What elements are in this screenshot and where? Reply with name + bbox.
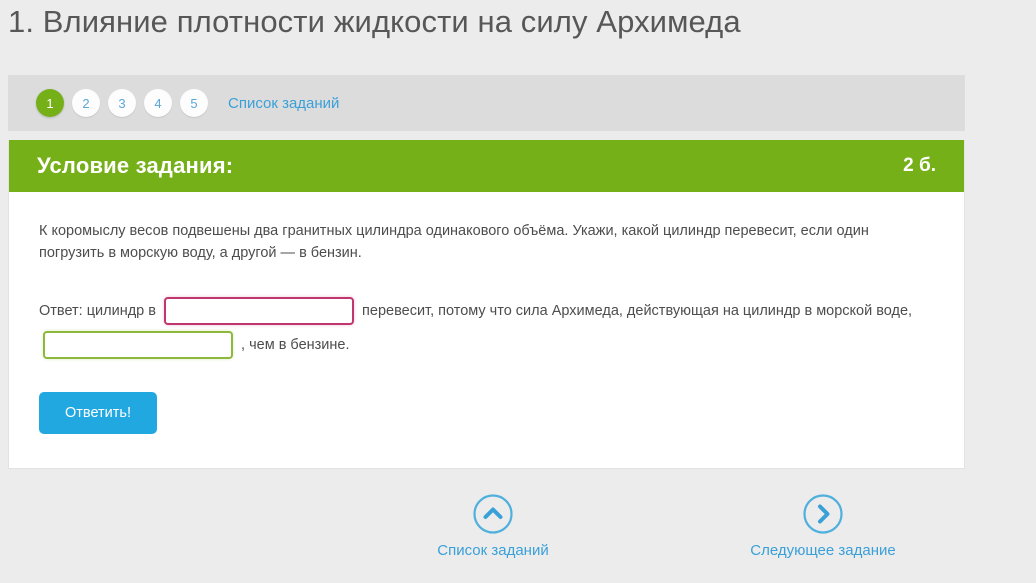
task-pill-1[interactable]: 1 xyxy=(36,89,64,117)
task-card-title: Условие задания: xyxy=(37,153,233,179)
task-pill-5[interactable]: 5 xyxy=(180,89,208,117)
task-pill-4[interactable]: 4 xyxy=(144,89,172,117)
answer-input-2[interactable] xyxy=(43,331,233,359)
submit-answer-button[interactable]: Ответить! xyxy=(39,392,157,434)
task-pill-2[interactable]: 2 xyxy=(72,89,100,117)
footer-task-list-button[interactable]: Список заданий xyxy=(378,493,608,560)
footer-next-task-button[interactable]: Следующее задание xyxy=(708,493,938,560)
answer-input-1[interactable] xyxy=(164,297,354,325)
task-card-header: Условие задания: 2 б. xyxy=(9,140,964,192)
footer-task-list-label: Список заданий xyxy=(437,542,548,559)
task-card: Условие задания: 2 б. К коромыслу весов … xyxy=(8,140,965,469)
task-list-link[interactable]: Список заданий xyxy=(228,95,339,112)
footer-next-task-label: Следующее задание xyxy=(750,542,895,559)
task-points-badge: 2 б. xyxy=(903,155,936,177)
answer-line: Ответ: цилиндр в перевесит, потому что с… xyxy=(39,294,934,362)
chevron-up-circle-icon xyxy=(472,493,514,535)
answer-middle-text: перевесит, потому что сила Архимеда, дей… xyxy=(362,303,912,319)
answer-prefix-text: Ответ: цилиндр в xyxy=(39,303,156,319)
task-nav: 1 2 3 4 5 Список заданий xyxy=(8,75,965,131)
answer-suffix-text: , чем в бензине. xyxy=(241,337,349,353)
task-statement: К коромыслу весов подвешены два гранитны… xyxy=(39,220,934,264)
page-title: 1. Влияние плотности жидкости на силу Ар… xyxy=(8,4,1008,40)
task-pill-3[interactable]: 3 xyxy=(108,89,136,117)
footer-nav: Список заданий Следующее задание xyxy=(8,485,965,580)
task-card-body: К коромыслу весов подвешены два гранитны… xyxy=(9,192,964,468)
chevron-right-circle-icon xyxy=(802,493,844,535)
